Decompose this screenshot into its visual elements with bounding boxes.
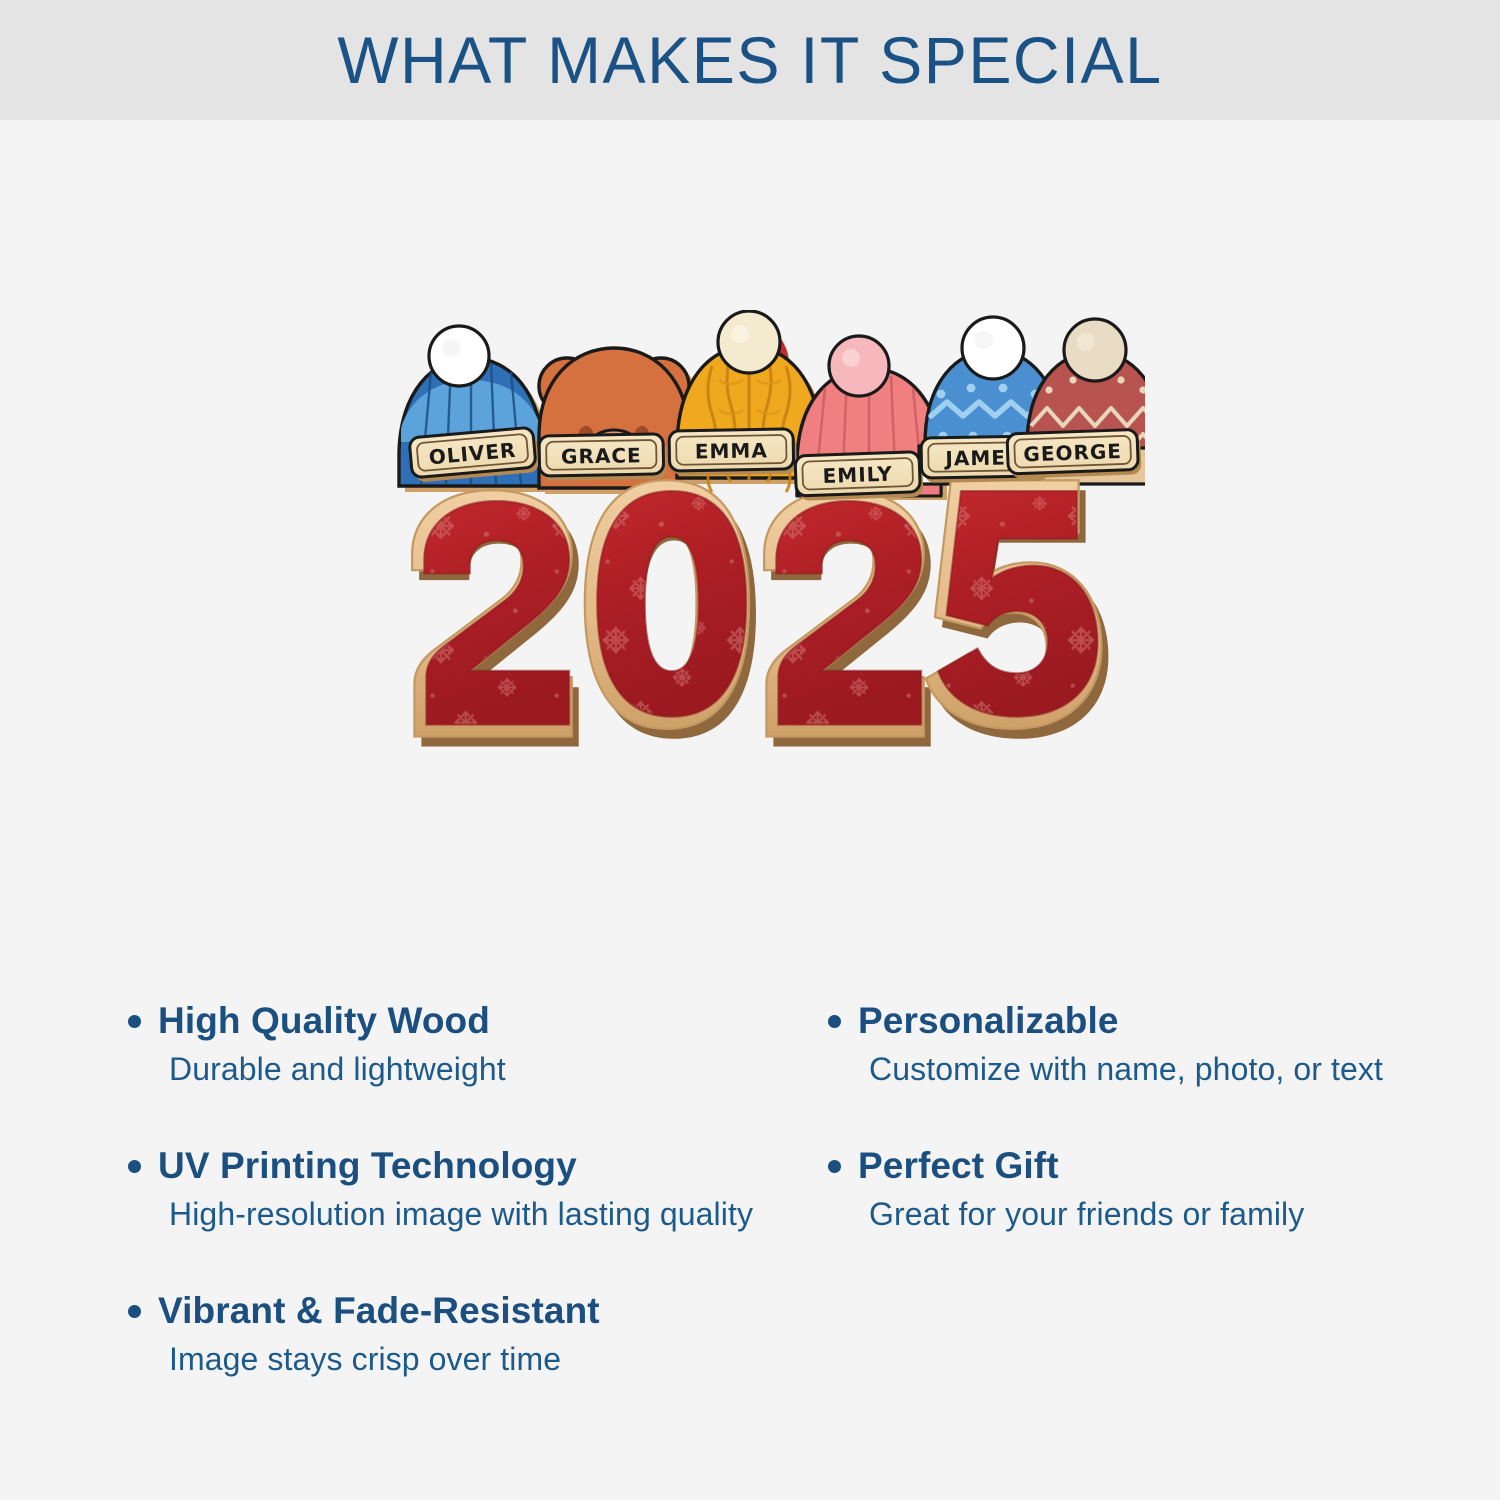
feature-description: Image stays crisp over time [169, 1340, 808, 1378]
svg-text:EMILY: EMILY [822, 462, 893, 488]
feature-head: Perfect Gift [828, 1145, 1448, 1186]
features-column-left: High Quality Wood Durable and lightweigh… [128, 1000, 808, 1390]
feature-item-high-quality-wood: High Quality Wood Durable and lightweigh… [128, 1000, 808, 1089]
svg-text:GEORGE: GEORGE [1023, 439, 1122, 466]
page-title: WHAT MAKES IT SPECIAL [337, 27, 1162, 93]
feature-item-uv-printing-technology: UV Printing Technology High-resolution i… [128, 1145, 808, 1234]
feature-title: High Quality Wood [158, 1000, 490, 1041]
feature-title: UV Printing Technology [158, 1145, 577, 1186]
feature-item-vibrant-fade-resistant: Vibrant & Fade-Resistant Image stays cri… [128, 1290, 808, 1379]
features-section: High Quality Wood Durable and lightweigh… [0, 1000, 1500, 1500]
bullet-dot-icon [128, 1015, 141, 1028]
name-tag-grace: GRACE [539, 434, 667, 481]
feature-title: Vibrant & Fade-Resistant [158, 1290, 600, 1331]
product-image-stage: OLIVER GRACE EMMA [0, 120, 1500, 1000]
name-tag-emma: EMMA [669, 429, 797, 476]
feature-description: Great for your friends or family [869, 1195, 1448, 1233]
feature-description: Customize with name, photo, or text [869, 1050, 1448, 1088]
svg-text:EMMA: EMMA [695, 438, 768, 463]
svg-text:GRACE: GRACE [561, 443, 642, 468]
bullet-dot-icon [828, 1160, 841, 1173]
feature-title: Perfect Gift [858, 1145, 1059, 1186]
name-tag-emily: EMILY [795, 452, 923, 501]
bullet-dot-icon [128, 1160, 141, 1173]
feature-item-personalizable: Personalizable Customize with name, phot… [828, 1000, 1448, 1089]
feature-head: Vibrant & Fade-Resistant [128, 1290, 808, 1331]
features-column-right: Personalizable Customize with name, phot… [828, 1000, 1448, 1246]
name-tag-george: GEORGE [1007, 429, 1141, 479]
feature-description: High-resolution image with lasting quali… [169, 1195, 808, 1233]
feature-head: UV Printing Technology [128, 1145, 808, 1186]
bullet-dot-icon [828, 1015, 841, 1028]
page-header-band: WHAT MAKES IT SPECIAL [0, 0, 1500, 120]
year-2025 [412, 480, 1108, 746]
feature-head: High Quality Wood [128, 1000, 808, 1041]
ornament-illustration: OLIVER GRACE EMMA [355, 310, 1145, 780]
feature-head: Personalizable [828, 1000, 1448, 1041]
bullet-dot-icon [128, 1305, 141, 1318]
feature-description: Durable and lightweight [169, 1050, 808, 1088]
feature-title: Personalizable [858, 1000, 1119, 1041]
feature-item-perfect-gift: Perfect Gift Great for your friends or f… [828, 1145, 1448, 1234]
